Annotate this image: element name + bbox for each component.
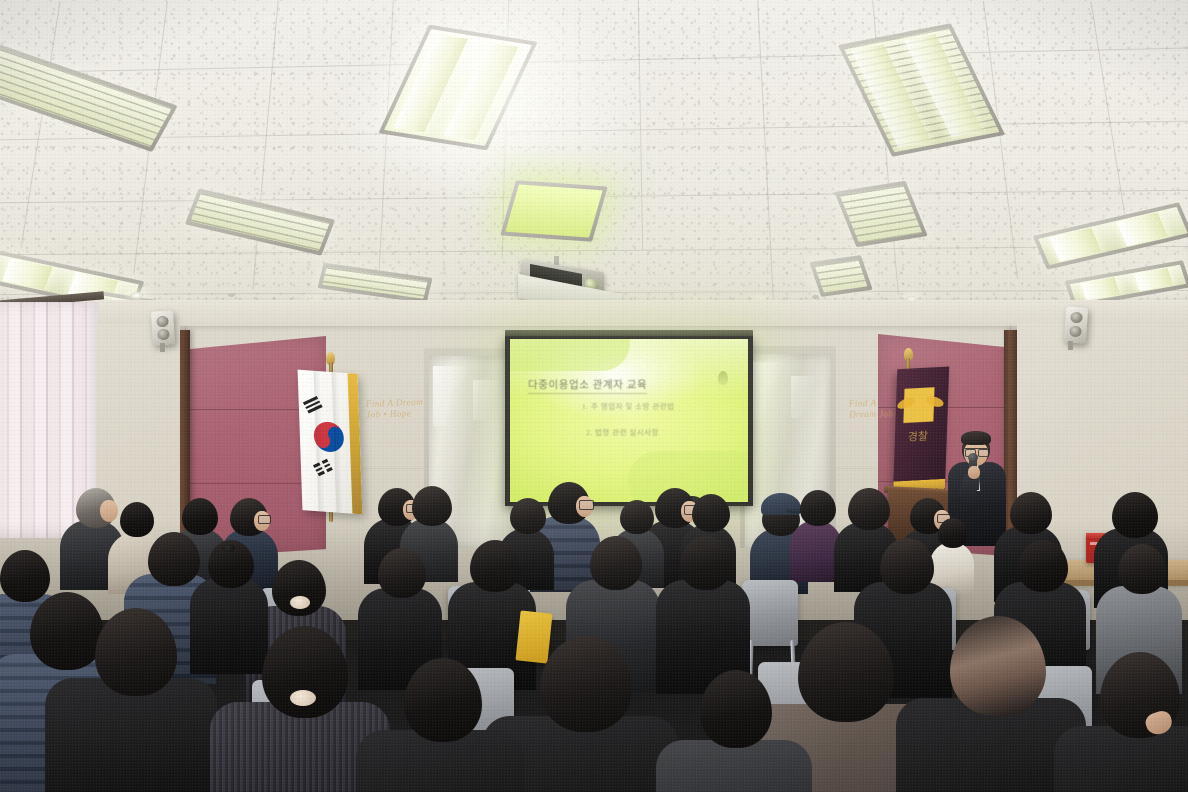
speaker-bracket-right: [1068, 341, 1073, 350]
folding-chair[interactable]: [742, 580, 798, 646]
hair-scrunchie: [290, 690, 316, 706]
ceiling-light-fixture: [809, 255, 872, 297]
sprinkler-head: [228, 293, 235, 297]
slide-bullet-2: 2. 법령 관련 실시사항: [586, 427, 659, 438]
wall-script-right: Find A Dream Job: [849, 397, 894, 421]
sprinkler-head: [812, 295, 819, 299]
slide-title: 다중이용업소 관계자 교육: [528, 377, 647, 394]
downlight: [130, 292, 143, 299]
slide-watermark-icon: [718, 371, 728, 385]
speaker-bracket-left: [160, 343, 165, 352]
wall-script-left: Find A Dream Job • Hope: [366, 397, 424, 421]
wall-speaker-right: [1064, 306, 1088, 343]
glasses-icon: [579, 500, 594, 510]
hair-clip: [222, 544, 235, 552]
wall-soffit: [0, 300, 1188, 326]
seated-audience: [0, 440, 1188, 792]
acoustic-tile-ceiling: [0, 0, 1188, 345]
glasses-icon: [258, 515, 271, 524]
seminar-room-photo: Find A Dream Job • Hope Find A Dream Job…: [0, 0, 1188, 792]
slide-bullet-1: 1. 주 영업자 및 소방 관련법: [582, 401, 675, 412]
hair-scrunchie: [290, 596, 310, 609]
yellow-folder: [515, 610, 552, 663]
ceiling-light-fixture: [500, 180, 608, 241]
slide-decoration: [510, 339, 630, 371]
wall-speaker-left: [151, 310, 175, 345]
